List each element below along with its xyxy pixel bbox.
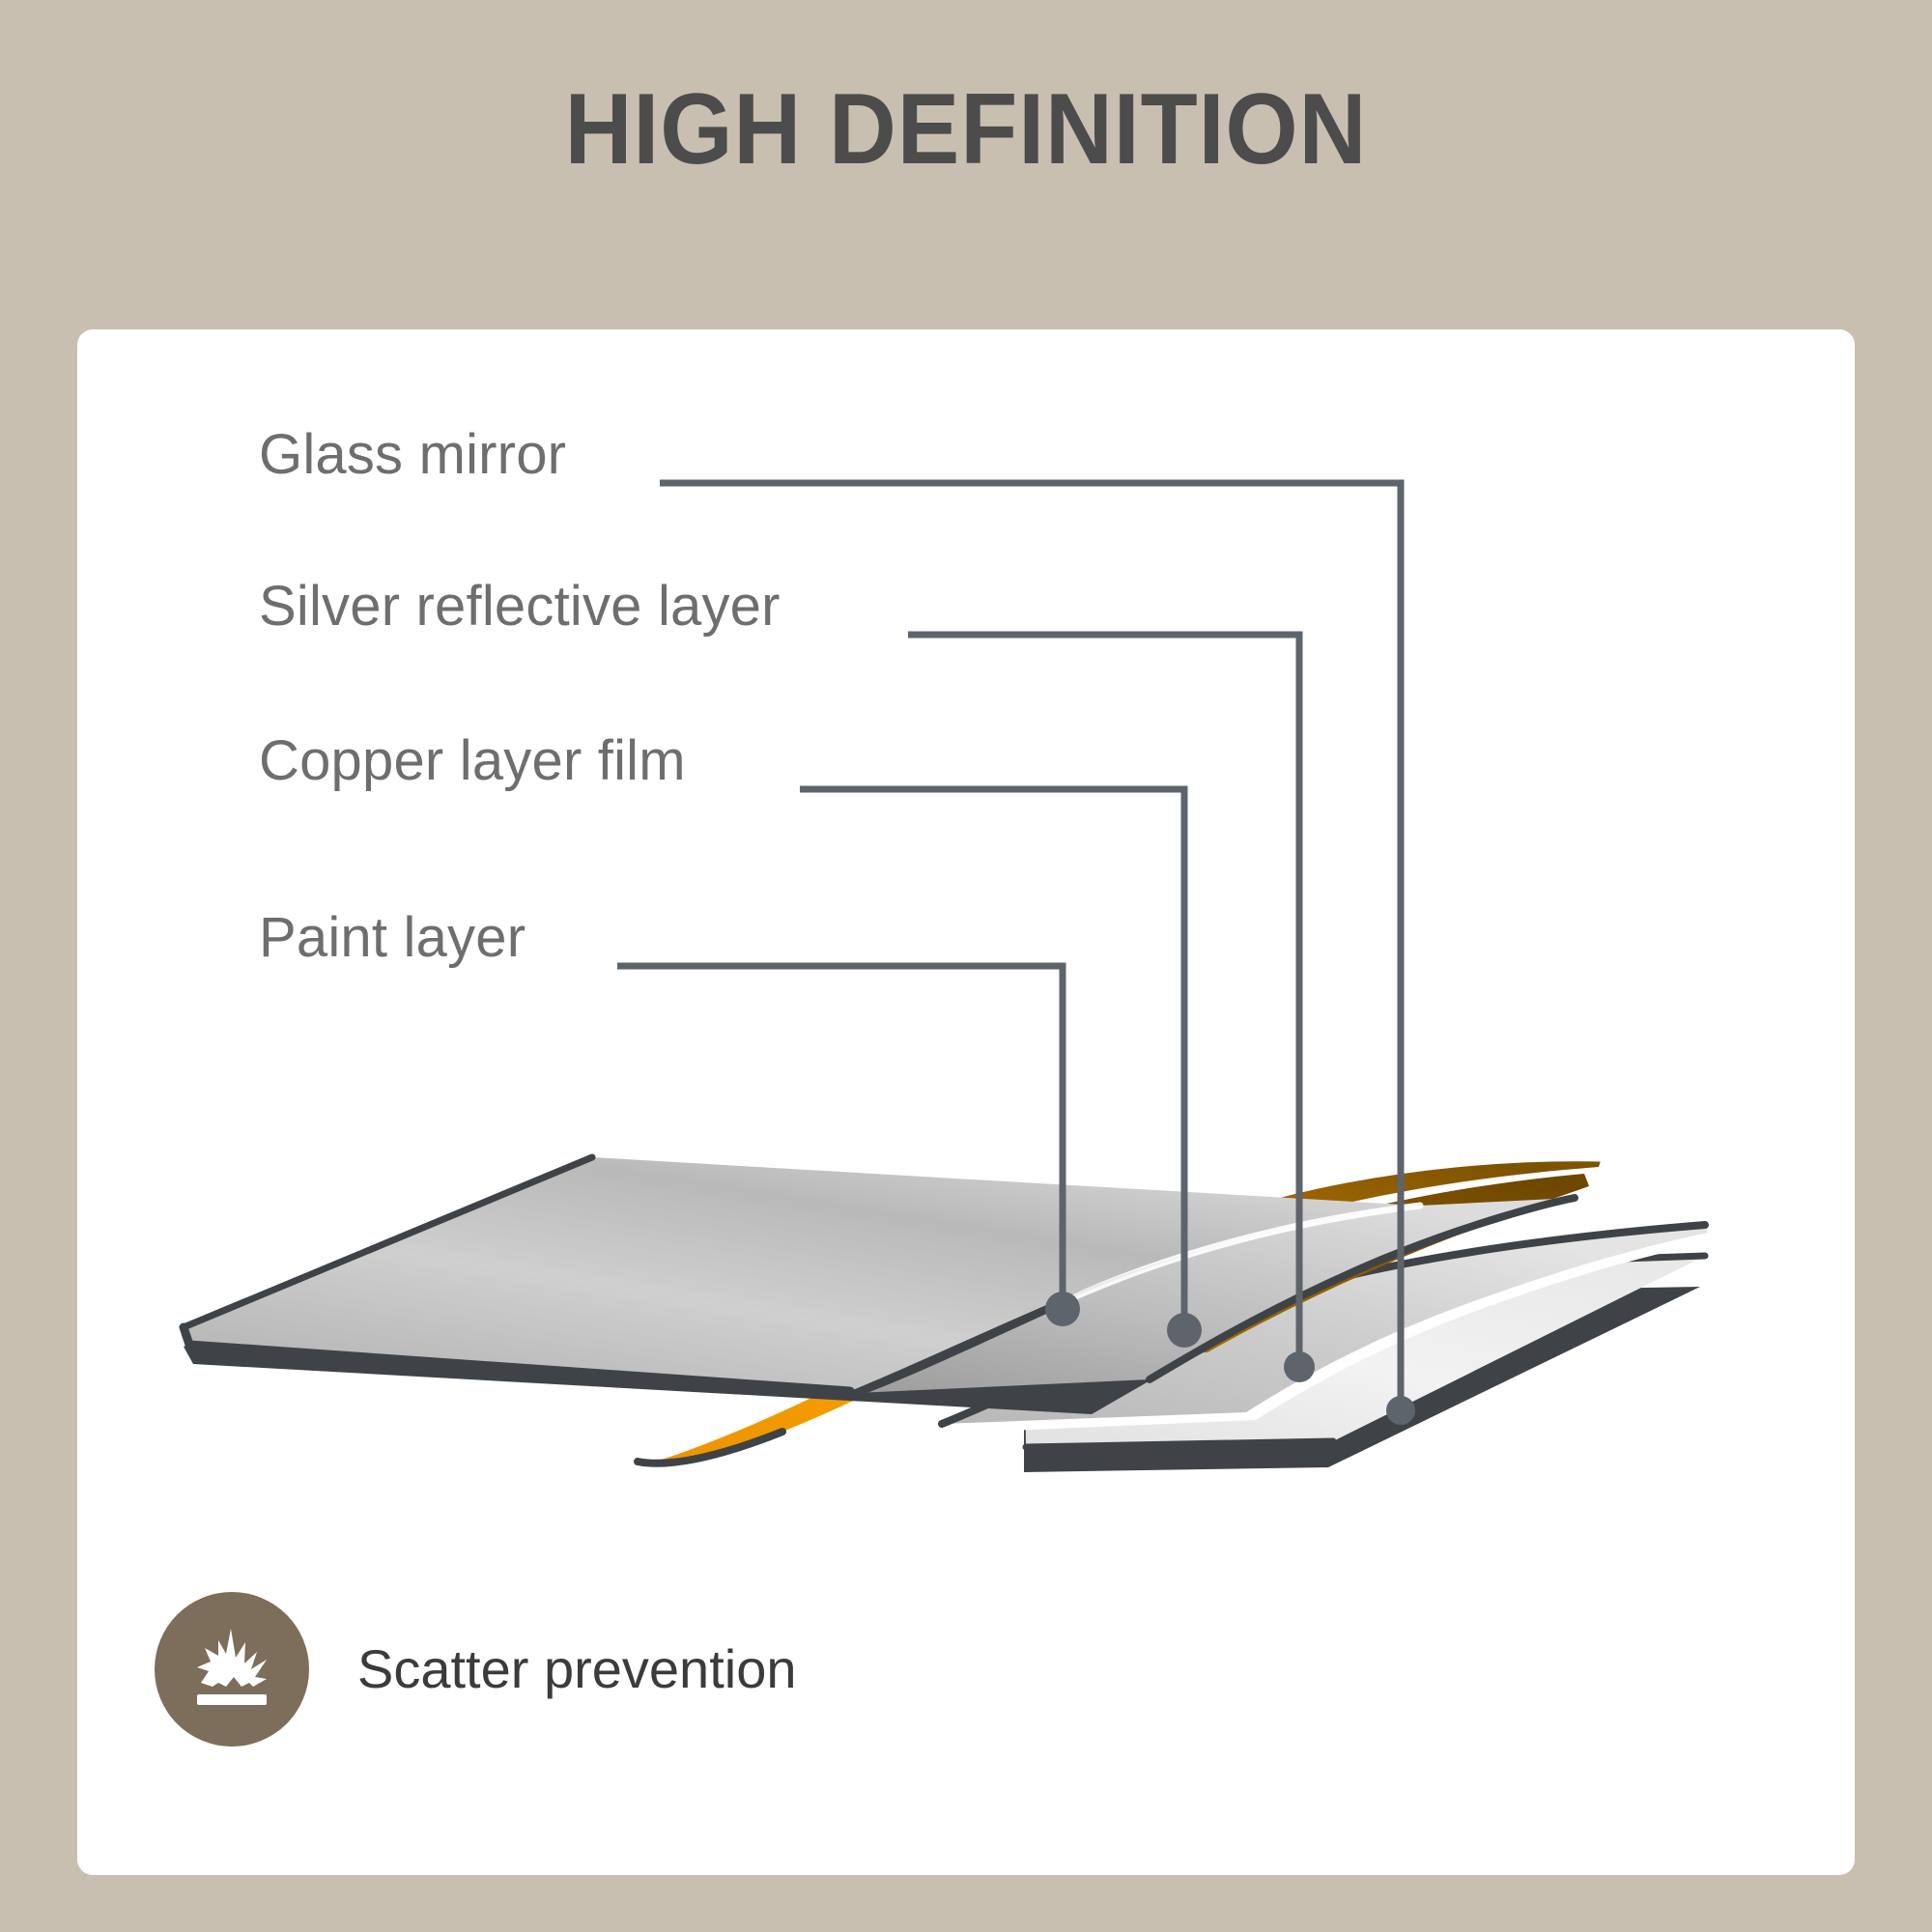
explosion-shatter-icon	[178, 1615, 286, 1723]
feature-badge-row: Scatter prevention	[155, 1592, 796, 1747]
layer-label-silver-reflective-layer: Silver reflective layer	[259, 577, 781, 637]
layer-label-glass-mirror: Glass mirror	[259, 425, 566, 485]
page-title: HIGH DEFINITION	[68, 75, 1864, 184]
scatter-prevention-label: Scatter prevention	[357, 1640, 796, 1698]
layer-label-paint-layer: Paint layer	[259, 908, 526, 968]
scatter-prevention-badge	[155, 1592, 309, 1747]
layer-label-copper-layer-film: Copper layer film	[259, 731, 686, 791]
poster-root: HIGH DEFINITION Glass mirror Silver refl…	[0, 0, 1932, 1932]
